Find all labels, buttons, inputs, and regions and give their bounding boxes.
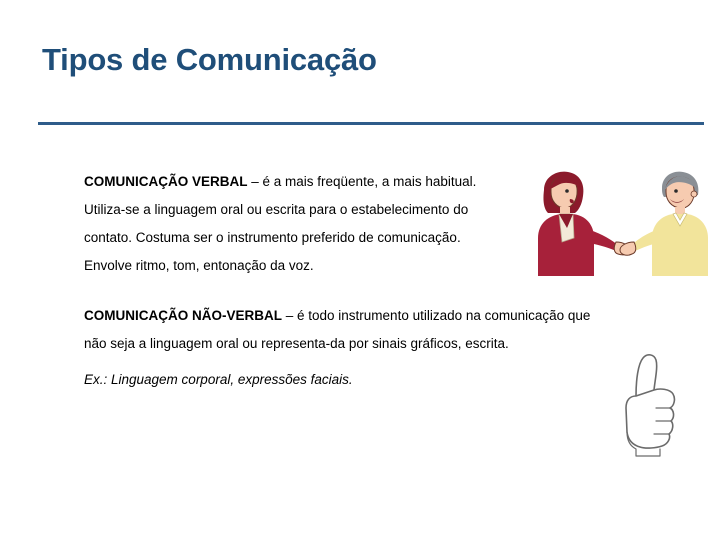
- page-title: Tipos de Comunicação: [42, 42, 377, 78]
- paragraph-nonverbal-example-text: Ex.: Linguagem corporal, expressões faci…: [84, 372, 353, 387]
- paragraph-verbal-lead: COMUNICAÇÃO VERBAL: [84, 174, 248, 189]
- title-divider: [38, 122, 704, 125]
- paragraph-nonverbal-example: Ex.: Linguagem corporal, expressões faci…: [84, 366, 604, 394]
- paragraph-nonverbal-lead: COMUNICAÇÃO NÃO-VERBAL: [84, 308, 282, 323]
- two-people-talking-illustration: [518, 168, 714, 276]
- thumbs-up-hand-illustration: [612, 350, 684, 460]
- paragraph-nonverbal: COMUNICAÇÃO NÃO-VERBAL – é todo instrume…: [84, 302, 604, 358]
- slide: Tipos de Comunicação COMUNICAÇÃO VERBAL …: [0, 0, 728, 546]
- paragraph-verbal: COMUNICAÇÃO VERBAL – é a mais freqüente,…: [84, 168, 509, 280]
